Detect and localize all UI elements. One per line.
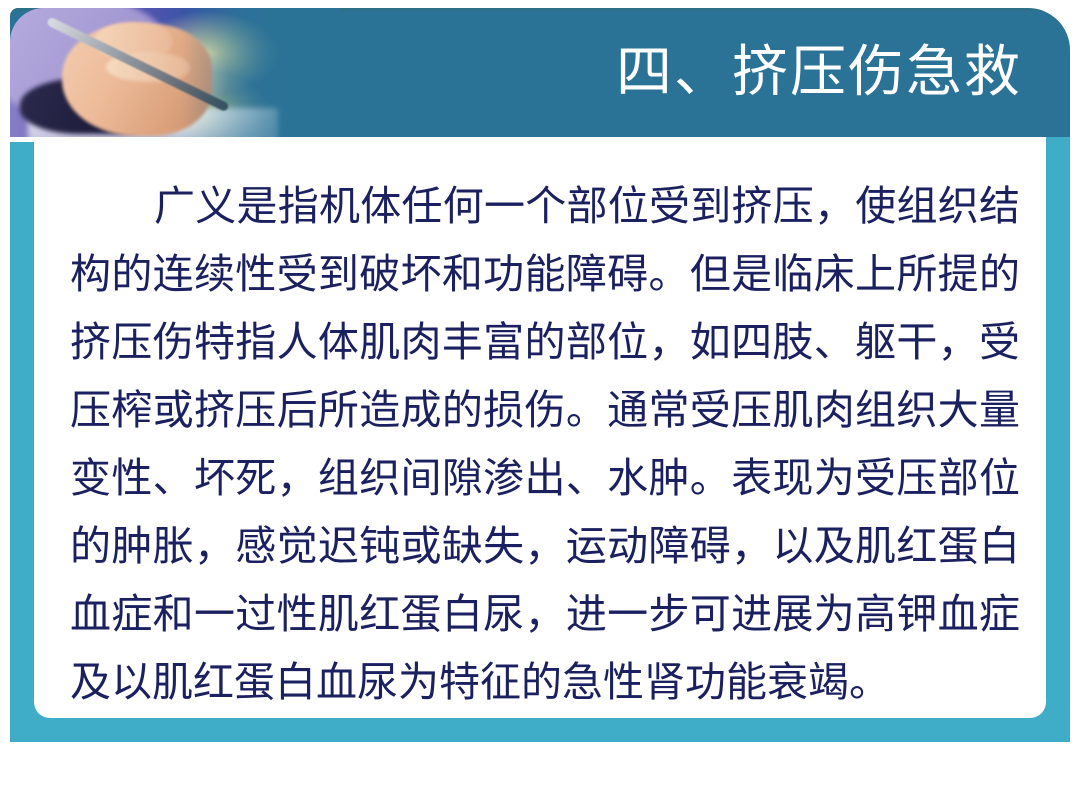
- hand-stylus-photo: [10, 8, 340, 137]
- slide-title: 四、挤压伤急救: [616, 34, 1022, 112]
- frame-border-right: [1046, 137, 1070, 742]
- photo-fade-overlay: [10, 8, 340, 137]
- frame-border-bottom: [10, 718, 1070, 742]
- slide-body-paragraph: 广义是指机体任何一个部位受到挤压，使组织结构的连续性受到破坏和功能障碍。但是临床…: [70, 172, 1020, 716]
- frame-border-left: [10, 142, 34, 742]
- slide-canvas: 四、挤压伤急救 广义是指机体任何一个部位受到挤压，使组织结构的连续性受到破坏和功…: [0, 0, 1080, 810]
- slide-header-band: 四、挤压伤急救: [10, 8, 1070, 137]
- slide-body-area: 广义是指机体任何一个部位受到挤压，使组织结构的连续性受到破坏和功能障碍。但是临床…: [70, 172, 1020, 692]
